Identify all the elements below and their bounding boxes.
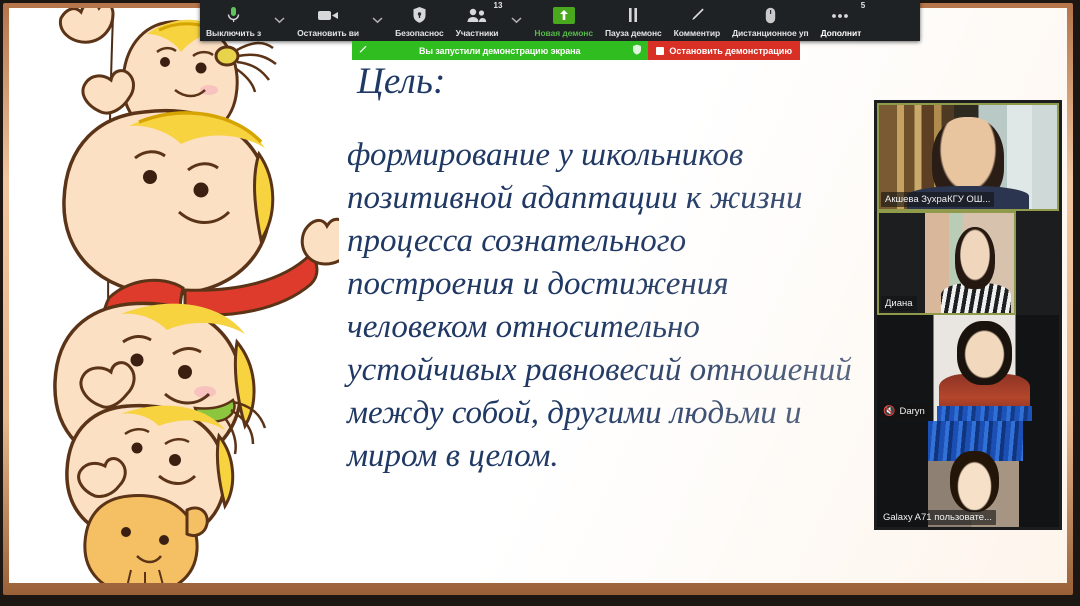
toolbar-button-remote-control[interactable]: Дистанционное уп bbox=[726, 0, 815, 44]
toolbar-button-stop-video[interactable]: Остановить ви bbox=[291, 0, 365, 44]
participant-name-2-text: Диана bbox=[885, 297, 913, 310]
toolbar-button-new-share[interactable]: Новая демонс bbox=[528, 0, 599, 44]
participant-name-2: Диана bbox=[881, 296, 917, 311]
toolbar-button-pause-share[interactable]: Пауза демонс bbox=[599, 0, 668, 44]
pause-icon bbox=[626, 5, 640, 25]
participant-name-4-text: Galaxy A71 пользовате... bbox=[883, 511, 992, 524]
toolbar-label-security: Безопаснос bbox=[395, 28, 444, 38]
stop-share-button[interactable]: Остановить демонстрацию bbox=[648, 41, 800, 60]
camera-icon bbox=[317, 5, 339, 25]
toolbar-label-pause-share: Пауза демонс bbox=[605, 28, 662, 38]
screen-capture-photo: Цель: формирование у школьников позитивн… bbox=[0, 0, 1080, 606]
stop-share-label: Остановить демонстрацию bbox=[669, 46, 792, 56]
security-status-shield-icon[interactable] bbox=[632, 44, 642, 57]
participant-name-1: Акшева ЗухраКГУ ОШ... bbox=[881, 192, 994, 207]
video-options-chevron-down-icon[interactable] bbox=[365, 0, 389, 41]
slide-body-text: формирование у школьников позитивной ада… bbox=[347, 134, 907, 478]
participants-count-badge: 13 bbox=[494, 1, 503, 10]
slide-text-block: Цель: формирование у школьников позитивн… bbox=[347, 63, 907, 478]
participant-tile-2[interactable]: Диана bbox=[877, 211, 1016, 315]
toolbar-label-stop-video: Остановить ви bbox=[297, 28, 359, 38]
toolbar-label-new-share: Новая демонс bbox=[534, 28, 593, 38]
cartoon-children-illustration bbox=[9, 8, 339, 583]
shield-icon bbox=[412, 5, 427, 25]
sharing-status-row: Вы запустили демонстрацию экрана Останов… bbox=[352, 41, 800, 60]
stop-square-icon bbox=[656, 47, 664, 55]
muted-microphone-icon: 🔇 bbox=[883, 405, 895, 418]
participants-options-chevron-down-icon[interactable] bbox=[504, 0, 528, 41]
participant-tile-4[interactable]: Galaxy A71 пользовате... bbox=[877, 421, 1059, 527]
participant-name-3-text: Daryn bbox=[899, 405, 924, 418]
toolbar-button-annotate[interactable]: Комментир bbox=[668, 0, 726, 44]
toolbar-label-remote-control: Дистанционное уп bbox=[732, 28, 809, 38]
toolbar-label-more: Дополнит bbox=[821, 28, 862, 38]
microphone-icon bbox=[227, 5, 240, 25]
sharing-status-banner: Вы запустили демонстрацию экрана bbox=[352, 41, 648, 60]
toolbar-button-more[interactable]: 5 Дополнит bbox=[815, 0, 868, 44]
sharing-status-text: Вы запустили демонстрацию экрана bbox=[419, 46, 580, 56]
more-count-badge: 5 bbox=[861, 1, 865, 10]
toolbar-label-annotate: Комментир bbox=[674, 28, 720, 38]
participant-tile-3[interactable]: 🔇 Daryn bbox=[877, 315, 1059, 421]
toolbar-label-mute: Выключить з bbox=[206, 28, 261, 38]
zoom-toolbar[interactable]: Выключить з Остановить ви Безопаснос 13 bbox=[200, 0, 920, 41]
participant-filmstrip[interactable]: Акшева ЗухраКГУ ОШ... Диана 🔇 Daryn bbox=[874, 100, 1062, 530]
toolbar-button-security[interactable]: Безопаснос bbox=[389, 0, 450, 44]
pencil-icon bbox=[689, 5, 705, 25]
participant-tile-1[interactable]: Акшева ЗухраКГУ ОШ... bbox=[877, 103, 1059, 211]
participants-icon bbox=[466, 5, 488, 25]
toolbar-label-participants: Участники bbox=[456, 28, 499, 38]
slide-title: Цель: bbox=[357, 63, 907, 100]
toolbar-button-participants[interactable]: 13 Участники bbox=[450, 0, 505, 44]
annotate-status-pencil-icon[interactable] bbox=[358, 45, 367, 57]
participant-name-3: 🔇 Daryn bbox=[879, 404, 929, 419]
toolbar-button-mute[interactable]: Выключить з bbox=[200, 0, 267, 44]
ellipsis-icon bbox=[830, 5, 852, 25]
share-screen-icon bbox=[553, 5, 575, 25]
participant-name-1-text: Акшева ЗухраКГУ ОШ... bbox=[885, 193, 990, 206]
mouse-icon bbox=[765, 5, 776, 25]
participant-name-4: Galaxy A71 пользовате... bbox=[879, 510, 996, 525]
mute-options-chevron-down-icon[interactable] bbox=[267, 0, 291, 41]
